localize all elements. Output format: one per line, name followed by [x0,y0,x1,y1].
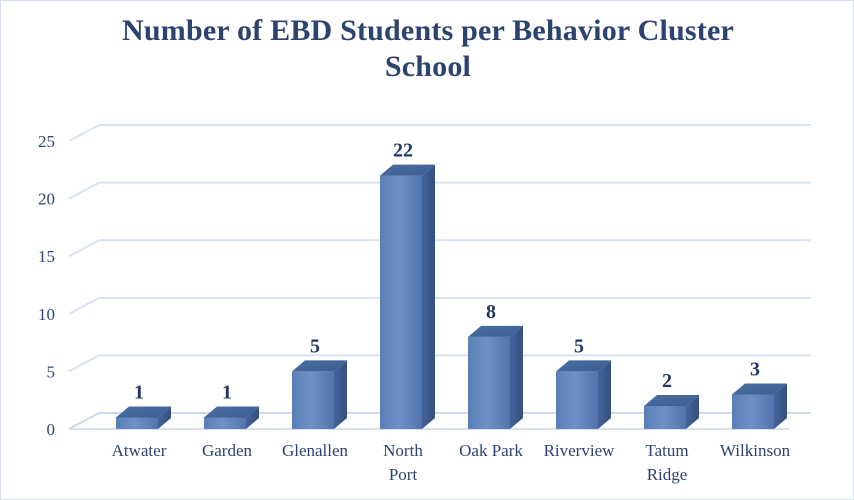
gridline [69,240,811,256]
x-axis-category-line: Port [389,465,418,484]
x-axis-category-label: Garden [202,441,253,460]
gridlines-group [69,125,811,429]
bar-front-face [380,176,422,429]
y-axis-tick-label: 20 [38,190,55,209]
gridline [69,355,811,371]
bar-side-face [510,326,523,429]
bar-value-label: 5 [574,335,584,357]
bar-value-label: 5 [310,335,320,357]
bar-value-label: 1 [134,381,144,403]
bar-column[interactable] [116,406,171,429]
y-axis-tick-label: 5 [47,362,56,381]
bar-value-label: 22 [393,140,413,162]
bar-side-face [422,165,435,429]
data-labels-group: 115228523 [134,140,760,404]
gridline [69,183,811,199]
x-axis-category-label: Wilkinson [720,441,791,460]
x-axis-category-label: Atwater [112,441,167,460]
bar-column[interactable] [556,360,611,429]
bar-side-face [598,360,611,429]
bar-column[interactable] [292,360,347,429]
x-axis-category-label: NorthPort [383,441,423,484]
bar-value-label: 1 [222,381,232,403]
x-axis-category-line: Ridge [647,465,688,484]
chart-container: Number of EBD Students per Behavior Clus… [0,0,854,500]
bar-side-face [334,360,347,429]
bar-column[interactable] [468,326,523,429]
bar-front-face [732,394,774,429]
gridline [69,125,811,141]
bars-group [116,165,787,429]
bar-front-face [116,417,158,429]
y-axis-tick-label: 0 [47,420,56,439]
bar-column[interactable] [204,406,259,429]
gridline [69,298,811,314]
bar-front-face [644,406,686,429]
x-axis-category-label: Riverview [544,441,616,460]
bar-column[interactable] [380,165,435,429]
y-axis-tick-label: 15 [38,247,55,266]
bar-column[interactable] [644,395,699,429]
x-axis-labels-group: AtwaterGardenGlenallenNorthPortOak ParkR… [112,441,791,484]
y-axis-tick-label: 25 [38,132,55,151]
y-axis-tick-label: 10 [38,305,55,324]
chart-floor [69,413,811,429]
bar-value-label: 8 [486,301,496,323]
x-axis-category-label: Oak Park [459,441,523,460]
bar-column[interactable] [732,383,787,429]
x-axis-category-label: TatumRidge [645,441,688,484]
x-axis-category-line: North [383,441,423,460]
bar-front-face [204,417,246,429]
bar-value-label: 3 [750,358,760,380]
bar-front-face [468,337,510,429]
axis-baseline-back [69,413,811,429]
x-axis-category-label: Glenallen [282,441,349,460]
bar-value-label: 2 [662,370,672,392]
x-axis-category-line: Tatum [645,441,688,460]
bar-front-face [292,371,334,429]
plot-area: 0510152025 115228523 AtwaterGardenGlenal… [1,1,854,500]
y-axis-labels-group: 0510152025 [38,132,55,439]
bar-front-face [556,371,598,429]
gridline [69,413,811,429]
